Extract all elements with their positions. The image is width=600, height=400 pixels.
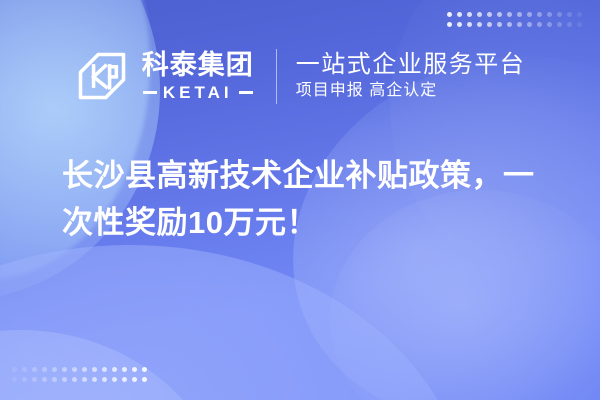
dot: [557, 12, 562, 17]
dot: [497, 22, 502, 27]
dot: [122, 367, 127, 372]
ketai-logo-icon: [75, 49, 129, 103]
promo-banner: 科泰集团 KETAI 一站式企业服务平台 项目申报 高企认定 长沙县高新技术企业…: [0, 0, 600, 400]
dot: [507, 12, 512, 17]
dot: [82, 377, 87, 382]
header-divider: [276, 49, 277, 104]
dot: [537, 12, 542, 17]
dot: [487, 22, 492, 27]
dot: [527, 22, 532, 27]
dot: [52, 367, 57, 372]
dot: [547, 12, 552, 17]
dot: [142, 367, 147, 372]
dot: [567, 12, 572, 17]
dot: [527, 12, 532, 17]
dot-row: [447, 12, 582, 17]
dot: [537, 22, 542, 27]
dot: [12, 377, 17, 382]
dot: [577, 12, 582, 17]
dot-grid-top-right: [447, 12, 582, 27]
dot: [457, 12, 462, 17]
tagline-block: 一站式企业服务平台 项目申报 高企认定: [296, 53, 526, 99]
dot: [142, 377, 147, 382]
dot: [12, 367, 17, 372]
dot-grid-bottom-left: [12, 367, 147, 382]
dot: [52, 377, 57, 382]
background-blob-bottom-left: [0, 245, 470, 400]
dot: [467, 22, 472, 27]
brand-lockup: 科泰集团 KETAI: [75, 49, 254, 103]
dot: [517, 12, 522, 17]
dot-row: [447, 22, 582, 27]
dot: [577, 22, 582, 27]
dot: [447, 22, 452, 27]
dot: [567, 22, 572, 27]
dot: [62, 367, 67, 372]
dot: [22, 377, 27, 382]
tagline-sub: 项目申报 高企认定: [296, 83, 526, 99]
brand-name-cn: 科泰集团: [142, 52, 254, 79]
dot: [32, 367, 37, 372]
dot: [477, 12, 482, 17]
brand-wordmark: 科泰集团 KETAI: [142, 52, 254, 101]
dot: [92, 377, 97, 382]
dot: [557, 22, 562, 27]
dot: [82, 367, 87, 372]
dot: [112, 377, 117, 382]
dot: [92, 367, 97, 372]
brand-dash-right-icon: [239, 91, 253, 94]
dot: [62, 377, 67, 382]
dot: [467, 12, 472, 17]
dot-row: [12, 367, 147, 372]
dot: [102, 367, 107, 372]
dot-row: [12, 377, 147, 382]
dot: [102, 377, 107, 382]
dot: [477, 22, 482, 27]
dot: [547, 22, 552, 27]
dot: [42, 377, 47, 382]
brand-dash-left-icon: [143, 91, 157, 94]
banner-headline: 长沙县高新技术企业补贴政策，一次性奖励10万元！: [62, 152, 562, 246]
dot: [447, 12, 452, 17]
dot: [72, 367, 77, 372]
dot: [122, 377, 127, 382]
dot: [507, 22, 512, 27]
brand-name-en: KETAI: [163, 84, 233, 101]
dot: [22, 367, 27, 372]
dot: [517, 22, 522, 27]
banner-header: 科泰集团 KETAI 一站式企业服务平台 项目申报 高企认定: [0, 34, 600, 118]
dot: [132, 367, 137, 372]
dot: [72, 377, 77, 382]
dot: [497, 12, 502, 17]
dot: [487, 12, 492, 17]
background-blob-bottom-left-inner: [0, 330, 230, 400]
dot: [32, 377, 37, 382]
dot: [457, 22, 462, 27]
dot: [112, 367, 117, 372]
dot: [42, 367, 47, 372]
dot: [132, 377, 137, 382]
brand-name-en-row: KETAI: [143, 84, 253, 101]
tagline-main: 一站式企业服务平台: [296, 53, 526, 77]
